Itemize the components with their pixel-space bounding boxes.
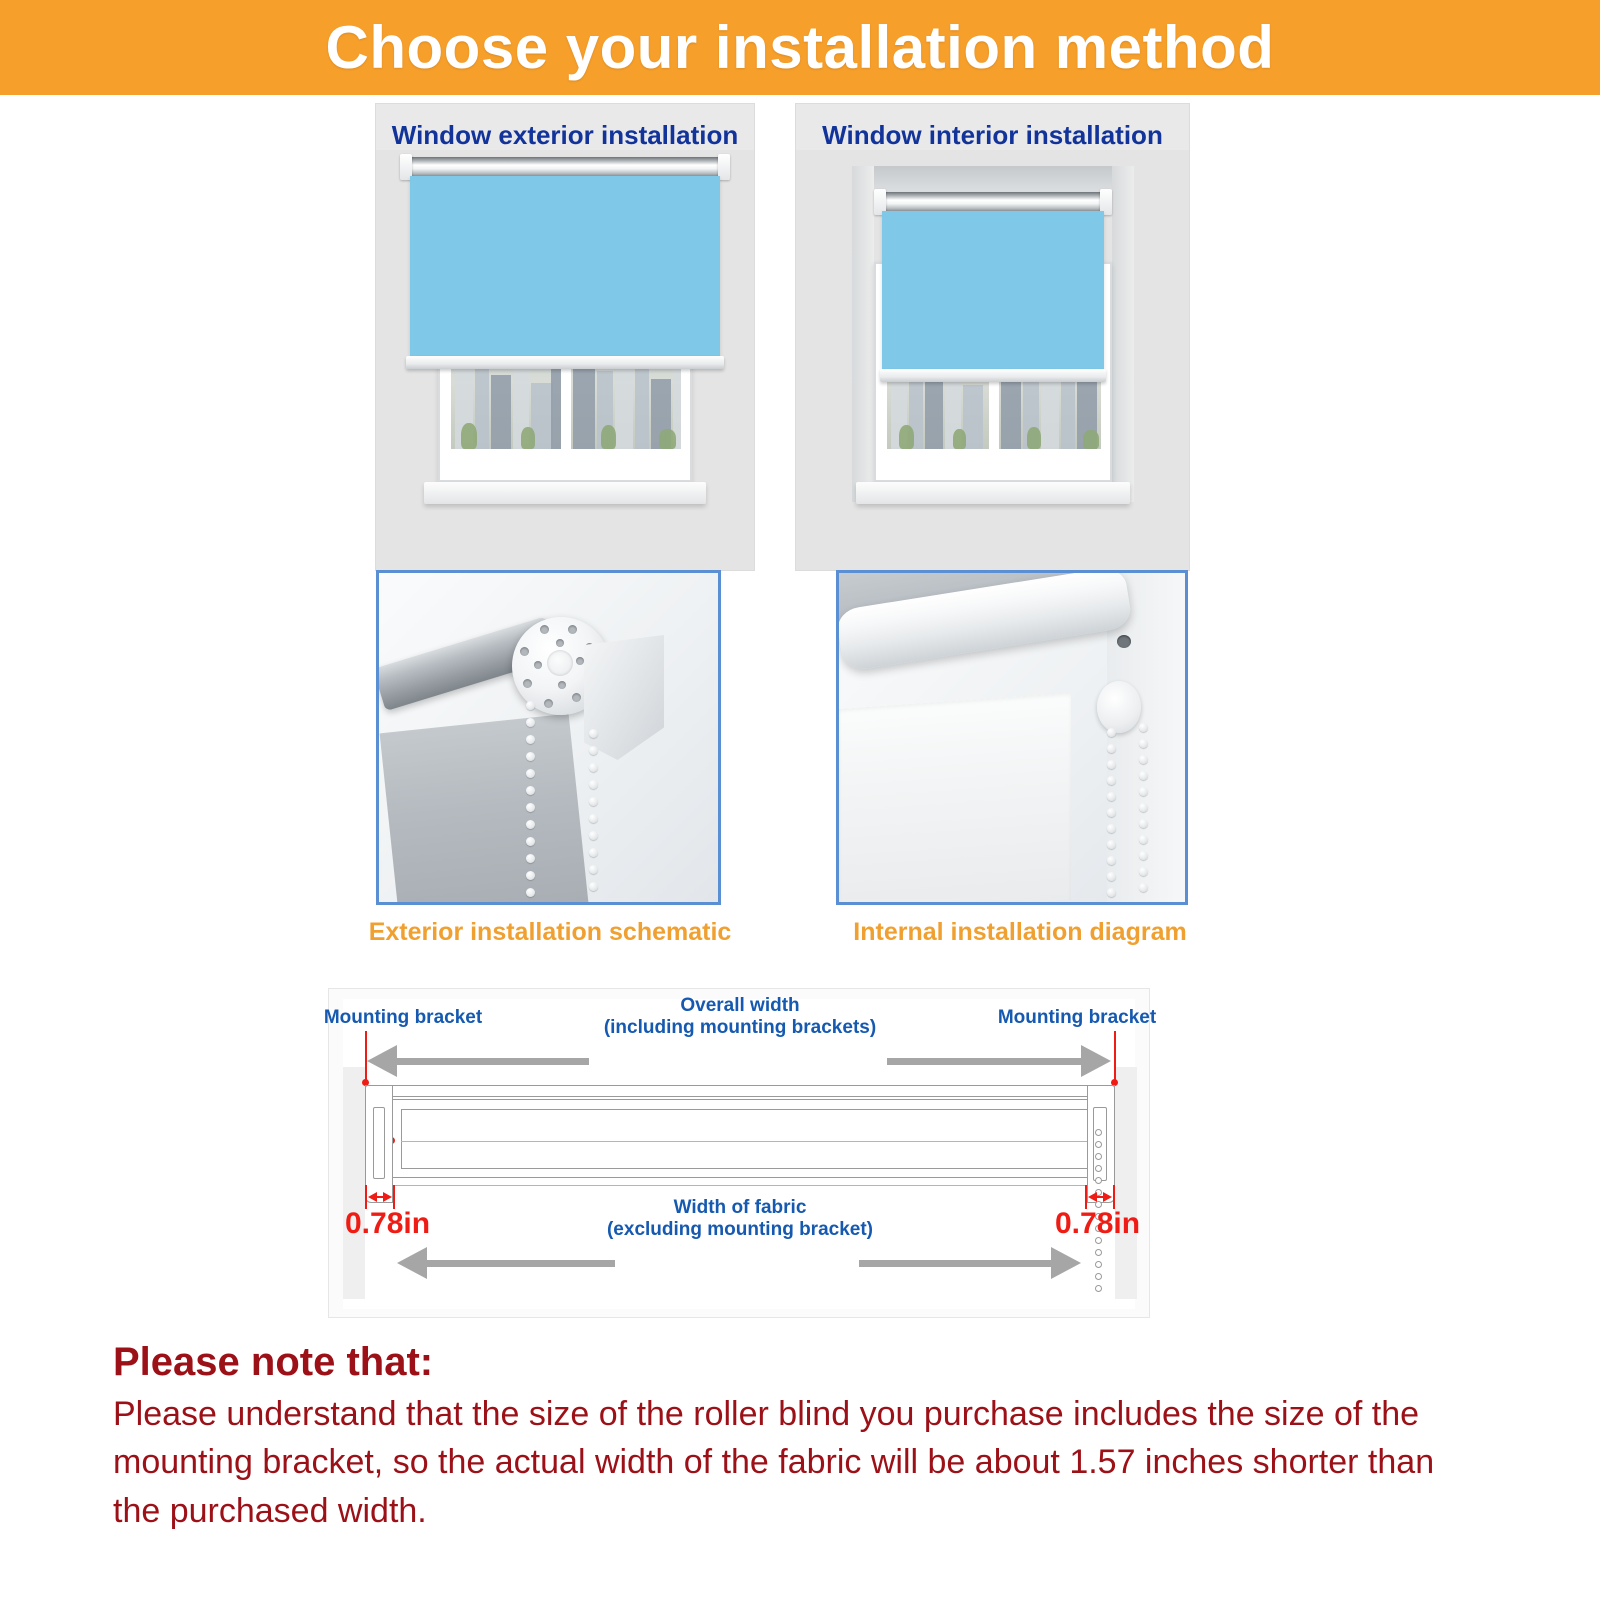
cad-headrail-outline [365, 1085, 1115, 1097]
roller-fabric-photo [380, 714, 589, 905]
cad-tube-seam [401, 1141, 1101, 1142]
cad-roller-tube-outline [401, 1109, 1101, 1169]
dim-arrow-left-b [383, 1192, 392, 1202]
dimension-value-right: 0.78in [1055, 1207, 1140, 1241]
window-sill-exterior [424, 482, 706, 504]
note-title: Please note that: [113, 1340, 1513, 1384]
caption-internal-diagram: Internal installation diagram [800, 918, 1240, 947]
photo-internal-diagram [836, 570, 1188, 905]
dim-tick-right-a [1085, 1185, 1087, 1209]
note-body: Please understand that the size of the r… [113, 1390, 1453, 1535]
dim-tick-left-a [365, 1185, 367, 1209]
window-recess-left [852, 166, 874, 502]
dim-arrow-right-b [1103, 1192, 1112, 1202]
window-recess-top [852, 166, 1134, 192]
cad-fabric-top-edge [389, 1177, 1113, 1178]
fabric-arrow-bar-right [859, 1260, 1053, 1267]
panel-window-exterior: Window exterior installation [375, 103, 755, 571]
panel-interior-title: Window interior installation [796, 120, 1189, 151]
window-sill-interior [856, 482, 1130, 504]
caption-exterior-schematic: Exterior installation schematic [330, 918, 770, 947]
photo-exterior-schematic [376, 570, 721, 905]
label-fabric-width-line2: (excluding mounting bracket) [540, 1219, 940, 1241]
diagram-right-edge [1115, 1067, 1137, 1299]
label-overall-width-line1: Overall width [540, 995, 940, 1017]
panel-window-interior: Window interior installation [795, 103, 1190, 571]
bracket-screw-hole [1117, 635, 1131, 648]
reference-line-right [1114, 1031, 1116, 1083]
cad-rail-line [365, 1099, 1115, 1100]
fabric-arrow-head-left [397, 1247, 427, 1279]
cad-fabric-body [365, 1185, 1115, 1186]
roller-tube-exterior [406, 157, 724, 176]
page-title: Choose your installation method [326, 18, 1275, 78]
header-banner: Choose your installation method [0, 0, 1600, 95]
dimension-value-left: 0.78in [345, 1207, 430, 1241]
overall-arrow-bar-right [887, 1058, 1083, 1065]
bead-chain-front [526, 701, 535, 905]
label-overall-width-line2: (including mounting brackets) [540, 1017, 940, 1039]
end-cap-center-hole [547, 650, 573, 676]
window-recess-right [1112, 166, 1134, 502]
blind-bottom-bar-interior [880, 369, 1106, 382]
roller-tube-interior [880, 192, 1106, 211]
bead-chain-right-back [1139, 723, 1148, 905]
fabric-arrow-bar-left [425, 1260, 615, 1267]
fabric-arrow-head-right [1051, 1247, 1081, 1279]
dim-tick-left-b [393, 1185, 395, 1209]
label-mounting-bracket-right: Mounting bracket [957, 1007, 1197, 1029]
cad-bracket-left-inner [373, 1107, 385, 1179]
dimension-diagram: Mounting bracket Mounting bracket Overal… [328, 988, 1150, 1318]
overall-arrow-head-right [1081, 1045, 1111, 1077]
roller-end-cap-photo [1097, 681, 1141, 733]
blind-fabric-interior [882, 211, 1104, 371]
label-fabric-width-line1: Width of fabric [540, 1197, 940, 1219]
bead-chain-back [589, 729, 598, 905]
illustration-panel-row: Window exterior installation [0, 103, 1600, 573]
blind-fabric-photo [839, 693, 1071, 905]
note-block: Please note that: Please understand that… [113, 1340, 1513, 1535]
overall-arrow-head-left [367, 1045, 397, 1077]
blind-bottom-bar-exterior [406, 356, 724, 369]
label-mounting-bracket-left: Mounting bracket [283, 1007, 523, 1029]
bead-chain-right-front [1107, 728, 1116, 905]
panel-exterior-title: Window exterior installation [376, 120, 754, 151]
blind-fabric-exterior [410, 176, 720, 358]
diagram-left-edge [343, 1067, 365, 1299]
overall-arrow-bar-left [395, 1058, 589, 1065]
dim-tick-right-b [1113, 1185, 1115, 1209]
